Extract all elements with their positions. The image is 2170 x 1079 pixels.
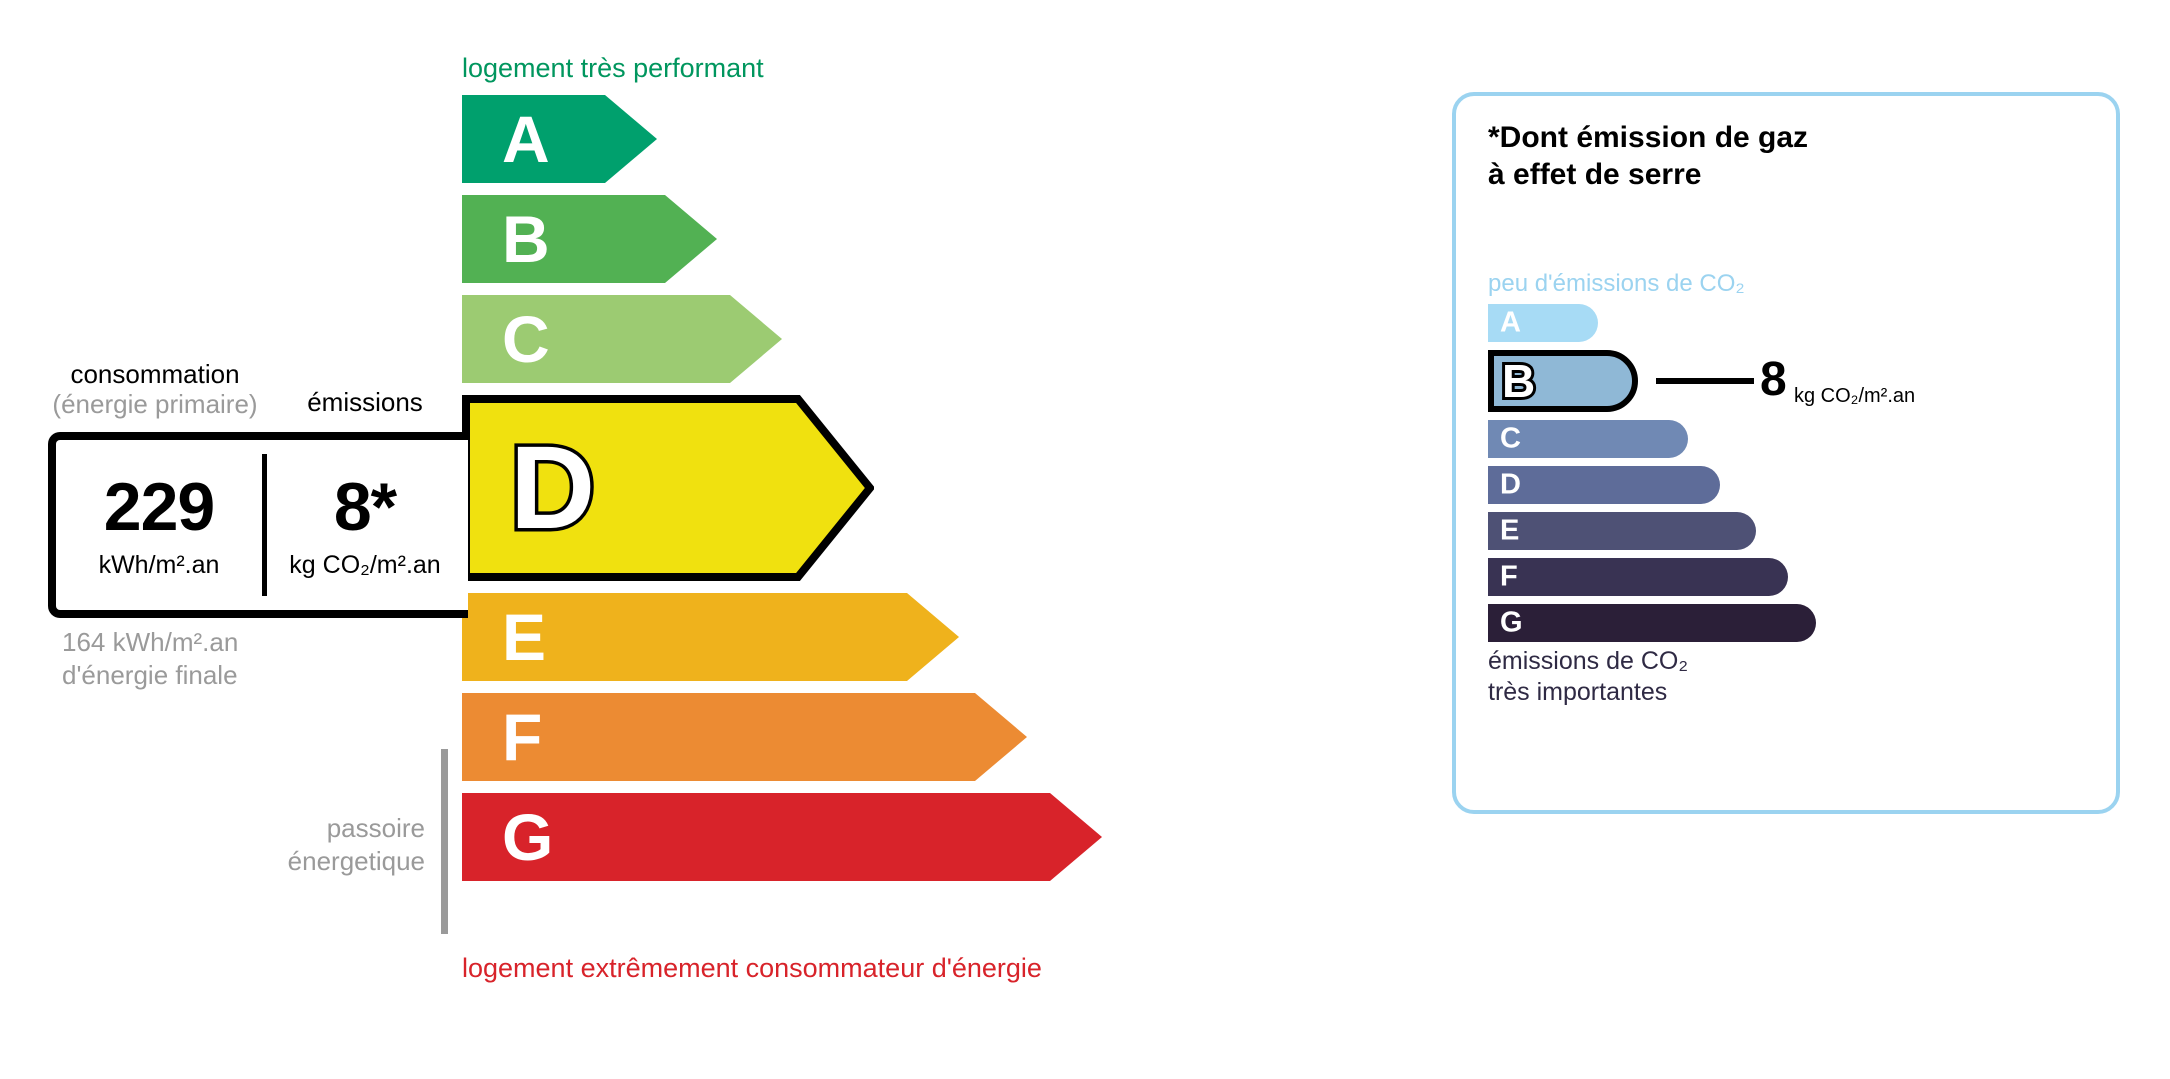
energy-class-row-a: A xyxy=(462,95,1282,183)
final-energy-note: 164 kWh/m².an d'énergie finale xyxy=(62,626,238,691)
energy-arrow-c xyxy=(462,295,782,383)
energy-class-row-e: E xyxy=(462,593,1282,681)
co2-class-letter-a: A xyxy=(1500,309,1521,338)
final-energy-label: d'énergie finale xyxy=(62,659,238,692)
passoire-bracket xyxy=(441,749,448,934)
passoire-label: passoire énergetique xyxy=(230,812,425,877)
energy-caption-bottom: logement extrêmement consommateur d'éner… xyxy=(462,955,1042,982)
co2-class-letter-b: B xyxy=(1502,358,1535,404)
co2-bar-g xyxy=(1488,604,1816,642)
co2-class-letter-e: E xyxy=(1500,517,1519,546)
label-consommation-main: consommation xyxy=(70,359,239,389)
arrow-icon xyxy=(462,593,959,681)
energy-performance-label: logement très performant ABCDEFG logemen… xyxy=(0,0,1390,1079)
co2-class-scale: ABCDEFG xyxy=(1488,304,2088,650)
energy-arrow-g xyxy=(462,793,1102,881)
co2-panel-title: *Dont émission de gaz à effet de serre xyxy=(1488,120,1808,193)
emission-cell: 8* kg CO₂/m².an xyxy=(262,440,468,610)
co2-class-row-b: B xyxy=(1488,350,2088,412)
co2-class-row-g: G xyxy=(1488,604,2088,642)
arrow-icon xyxy=(462,395,874,581)
energy-arrow-b xyxy=(462,195,717,283)
co2-class-row-e: E xyxy=(1488,512,2088,550)
arrow-icon xyxy=(462,195,717,283)
primary-energy-cell: 229 kWh/m².an xyxy=(56,440,262,610)
energy-class-row-d: D xyxy=(462,395,1282,581)
arrow-icon xyxy=(462,95,657,183)
co2-caption-bottom: émissions de CO₂ très importantes xyxy=(1488,646,1688,707)
primary-energy-unit: kWh/m².an xyxy=(99,553,220,578)
label-consommation-sub: (énergie primaire) xyxy=(48,390,262,420)
co2-class-letter-c: C xyxy=(1500,425,1521,454)
co2-panel: *Dont émission de gaz à effet de serre p… xyxy=(1452,92,2120,814)
co2-value-unit: kg CO₂/m².an xyxy=(1794,386,1915,406)
passoire-line-2: énergetique xyxy=(230,845,425,878)
arrow-icon xyxy=(462,793,1102,881)
energy-arrow-a xyxy=(462,95,657,183)
co2-value: 8 xyxy=(1760,356,1787,404)
emission-unit: kg CO₂/m².an xyxy=(289,553,440,578)
co2-bar-f xyxy=(1488,558,1788,596)
co2-bar-d xyxy=(1488,466,1720,504)
value-box: 229 kWh/m².an 8* kg CO₂/m².an xyxy=(48,432,468,618)
label-emissions: émissions xyxy=(262,388,468,418)
co2-class-letter-d: D xyxy=(1500,471,1521,500)
co2-class-row-d: D xyxy=(1488,466,2088,504)
co2-leader-line xyxy=(1656,378,1754,384)
co2-class-letter-g: G xyxy=(1500,609,1523,638)
primary-energy-value: 229 xyxy=(104,473,214,541)
energy-arrow-d xyxy=(462,395,874,581)
passoire-line-1: passoire xyxy=(230,812,425,845)
co2-class-letter-f: F xyxy=(1500,563,1518,592)
co2-class-row-f: F xyxy=(1488,558,2088,596)
arrow-icon xyxy=(462,295,782,383)
label-consommation: consommation (énergie primaire) xyxy=(48,360,262,420)
energy-arrow-f xyxy=(462,693,1027,781)
energy-class-row-c: C xyxy=(462,295,1282,383)
energy-class-scale: ABCDEFG xyxy=(462,95,1282,893)
co2-class-row-c: C xyxy=(1488,420,2088,458)
energy-class-row-f: F xyxy=(462,693,1282,781)
arrow-icon xyxy=(462,693,1027,781)
co2-caption-top: peu d'émissions de CO₂ xyxy=(1488,272,1745,296)
emission-value: 8* xyxy=(334,473,396,541)
final-energy-value: 164 kWh/m².an xyxy=(62,626,238,659)
co2-class-row-a: A xyxy=(1488,304,2088,342)
energy-arrow-e xyxy=(462,593,959,681)
co2-bar-e xyxy=(1488,512,1756,550)
energy-caption-top: logement très performant xyxy=(462,55,764,82)
energy-class-row-b: B xyxy=(462,195,1282,283)
energy-class-row-g: G xyxy=(462,793,1282,881)
